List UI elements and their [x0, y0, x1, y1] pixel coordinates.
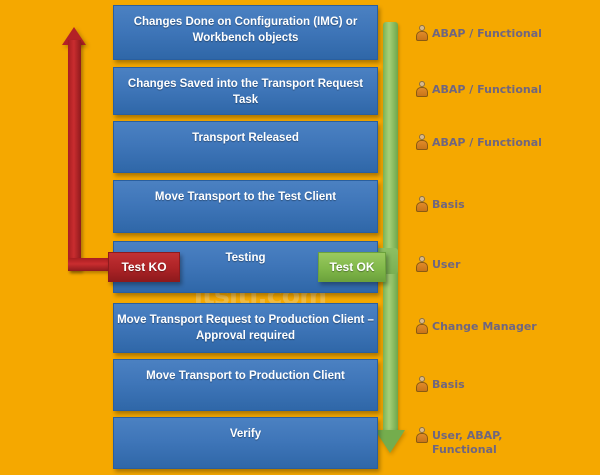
role-text: ABAP / Functional	[432, 81, 542, 97]
role-text: Basis	[432, 196, 465, 212]
person-icon	[415, 134, 428, 150]
person-icon	[415, 196, 428, 212]
role-label-move-to-test-client: Basis	[415, 196, 465, 212]
role-label-transport-released: ABAP / Functional	[415, 134, 542, 150]
role-label-move-to-production-client: Basis	[415, 376, 465, 392]
role-label-changes-saved: ABAP / Functional	[415, 81, 542, 97]
role-text: ABAP / Functional	[432, 25, 542, 41]
step-box-move-to-test-client[interactable]: Move Transport to the Test Client	[113, 180, 378, 233]
person-icon	[415, 25, 428, 41]
role-text: Basis	[432, 376, 465, 392]
step-box-changes-done[interactable]: Changes Done on Configuration (IMG) or W…	[113, 5, 378, 60]
step-box-move-to-production-client[interactable]: Move Transport to Production Client	[113, 359, 378, 411]
role-label-move-request-to-production: Change Manager	[415, 318, 537, 334]
role-label-testing: User	[415, 256, 460, 272]
step-box-changes-saved[interactable]: Changes Saved into the Transport Request…	[113, 67, 378, 115]
person-icon	[415, 318, 428, 334]
test-ko-button[interactable]: Test KO	[108, 252, 180, 282]
step-box-transport-released[interactable]: Transport Released	[113, 121, 378, 173]
role-text: ABAP / Functional	[432, 134, 542, 150]
step-box-move-request-to-production[interactable]: Move Transport Request to Production Cli…	[113, 303, 378, 353]
rework-arrow-shaft	[68, 40, 81, 271]
role-label-verify: User, ABAP, Functional	[415, 427, 502, 457]
role-text: User, ABAP, Functional	[432, 427, 502, 457]
step-box-verify[interactable]: Verify	[113, 417, 378, 469]
diagram-canvas: itsiti.com Changes Done on Configuration…	[0, 0, 600, 475]
role-text: User	[432, 256, 460, 272]
role-label-changes-done: ABAP / Functional	[415, 25, 542, 41]
person-icon	[415, 427, 428, 443]
role-text: Change Manager	[432, 318, 537, 334]
forward-arrow-head-icon	[375, 430, 405, 453]
person-icon	[415, 376, 428, 392]
person-icon	[415, 81, 428, 97]
person-icon	[415, 256, 428, 272]
forward-arrow-shaft	[383, 22, 398, 434]
test-ok-button[interactable]: Test OK	[318, 252, 386, 282]
